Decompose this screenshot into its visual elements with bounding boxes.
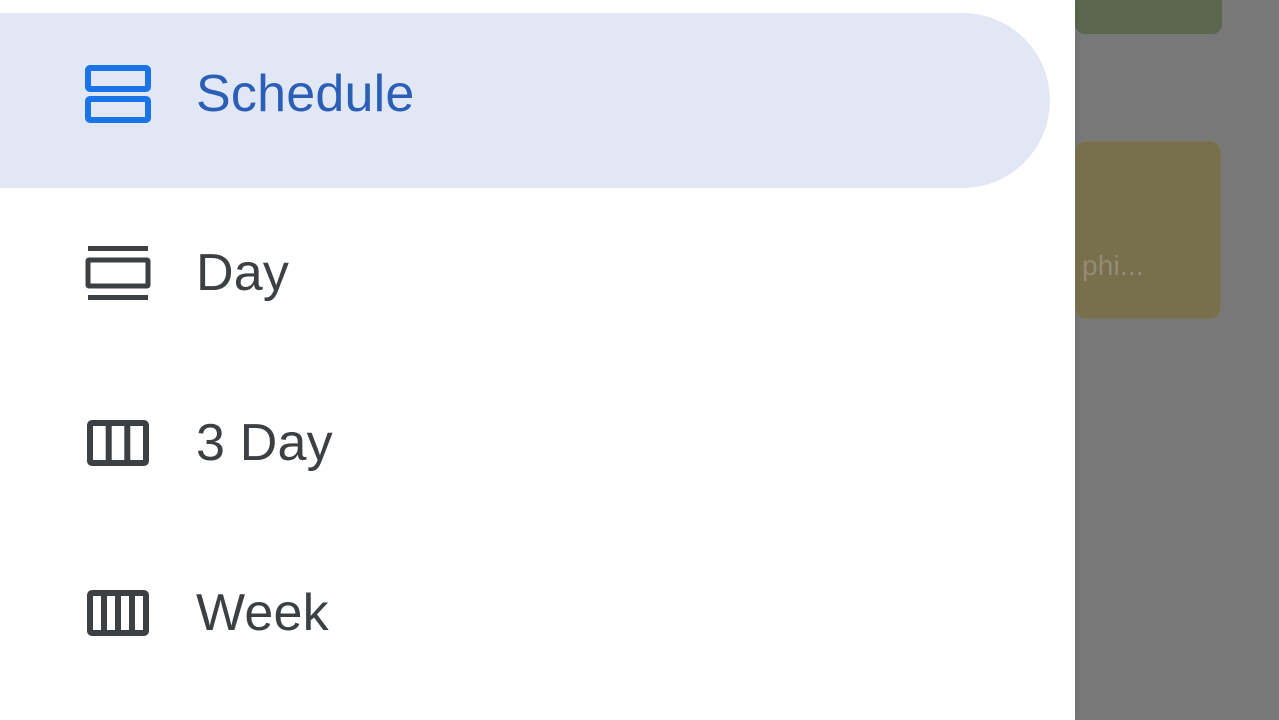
view-switcher-list: Schedule Day bbox=[0, 0, 1075, 698]
schedule-view-icon bbox=[82, 58, 154, 130]
calendar-event-gold-label: , phi... bbox=[1075, 250, 1221, 282]
calendar-backdrop: , phi... bbox=[1075, 0, 1279, 720]
menu-item-label-week: Week bbox=[196, 587, 329, 639]
menu-item-label-schedule: Schedule bbox=[196, 68, 414, 120]
week-view-icon bbox=[82, 577, 154, 649]
menu-item-label-day: Day bbox=[196, 247, 289, 299]
view-switcher-panel: Schedule Day bbox=[0, 0, 1075, 720]
menu-item-label-3-day: 3 Day bbox=[196, 417, 333, 469]
menu-item-week[interactable]: Week bbox=[0, 528, 1075, 698]
day-view-icon bbox=[82, 237, 154, 309]
menu-item-schedule[interactable]: Schedule bbox=[0, 0, 1075, 188]
calendar-event-green[interactable] bbox=[1075, 0, 1222, 34]
menu-item-3-day[interactable]: 3 Day bbox=[0, 358, 1075, 528]
app-screen: , phi... Schedule bbox=[0, 0, 1279, 720]
menu-item-day[interactable]: Day bbox=[0, 188, 1075, 358]
three-day-view-icon bbox=[82, 407, 154, 479]
calendar-event-gold[interactable]: , phi... bbox=[1075, 141, 1221, 319]
